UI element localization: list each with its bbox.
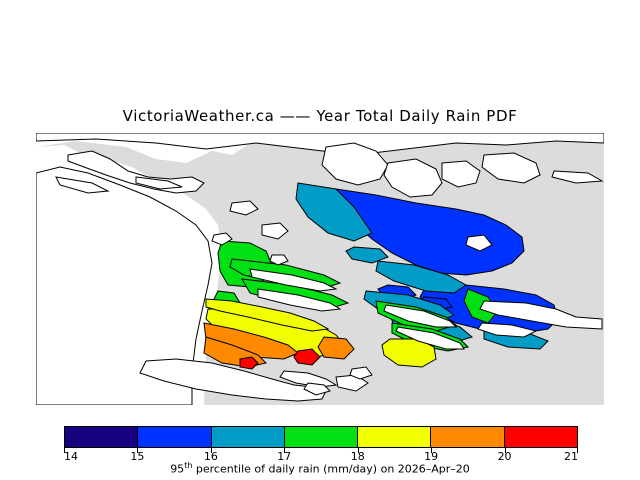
colorbar-segment-18-19 (358, 427, 431, 447)
colorbar-caption: 95th percentile of daily rain (mm/day) o… (0, 461, 640, 476)
colorbar-segment-19-20 (431, 427, 504, 447)
colorbar-segment-16-17 (212, 427, 285, 447)
colorbar-segment-14-15 (65, 427, 138, 447)
caption-prefix: 95 (170, 463, 184, 476)
weather-map-figure: VictoriaWeather.ca —— Year Total Daily R… (0, 0, 640, 480)
colorbar-segments (64, 426, 578, 448)
colorbar-segment-15-16 (138, 427, 211, 447)
colorbar-segment-17-18 (285, 427, 358, 447)
figure-title: VictoriaWeather.ca —— Year Total Daily R… (0, 107, 640, 125)
colorbar (64, 426, 578, 448)
caption-suffix: percentile of daily rain (mm/day) on 202… (192, 463, 469, 476)
colorbar-segment-20-21 (505, 427, 577, 447)
map-panel (36, 133, 604, 405)
map-canvas (36, 133, 604, 405)
